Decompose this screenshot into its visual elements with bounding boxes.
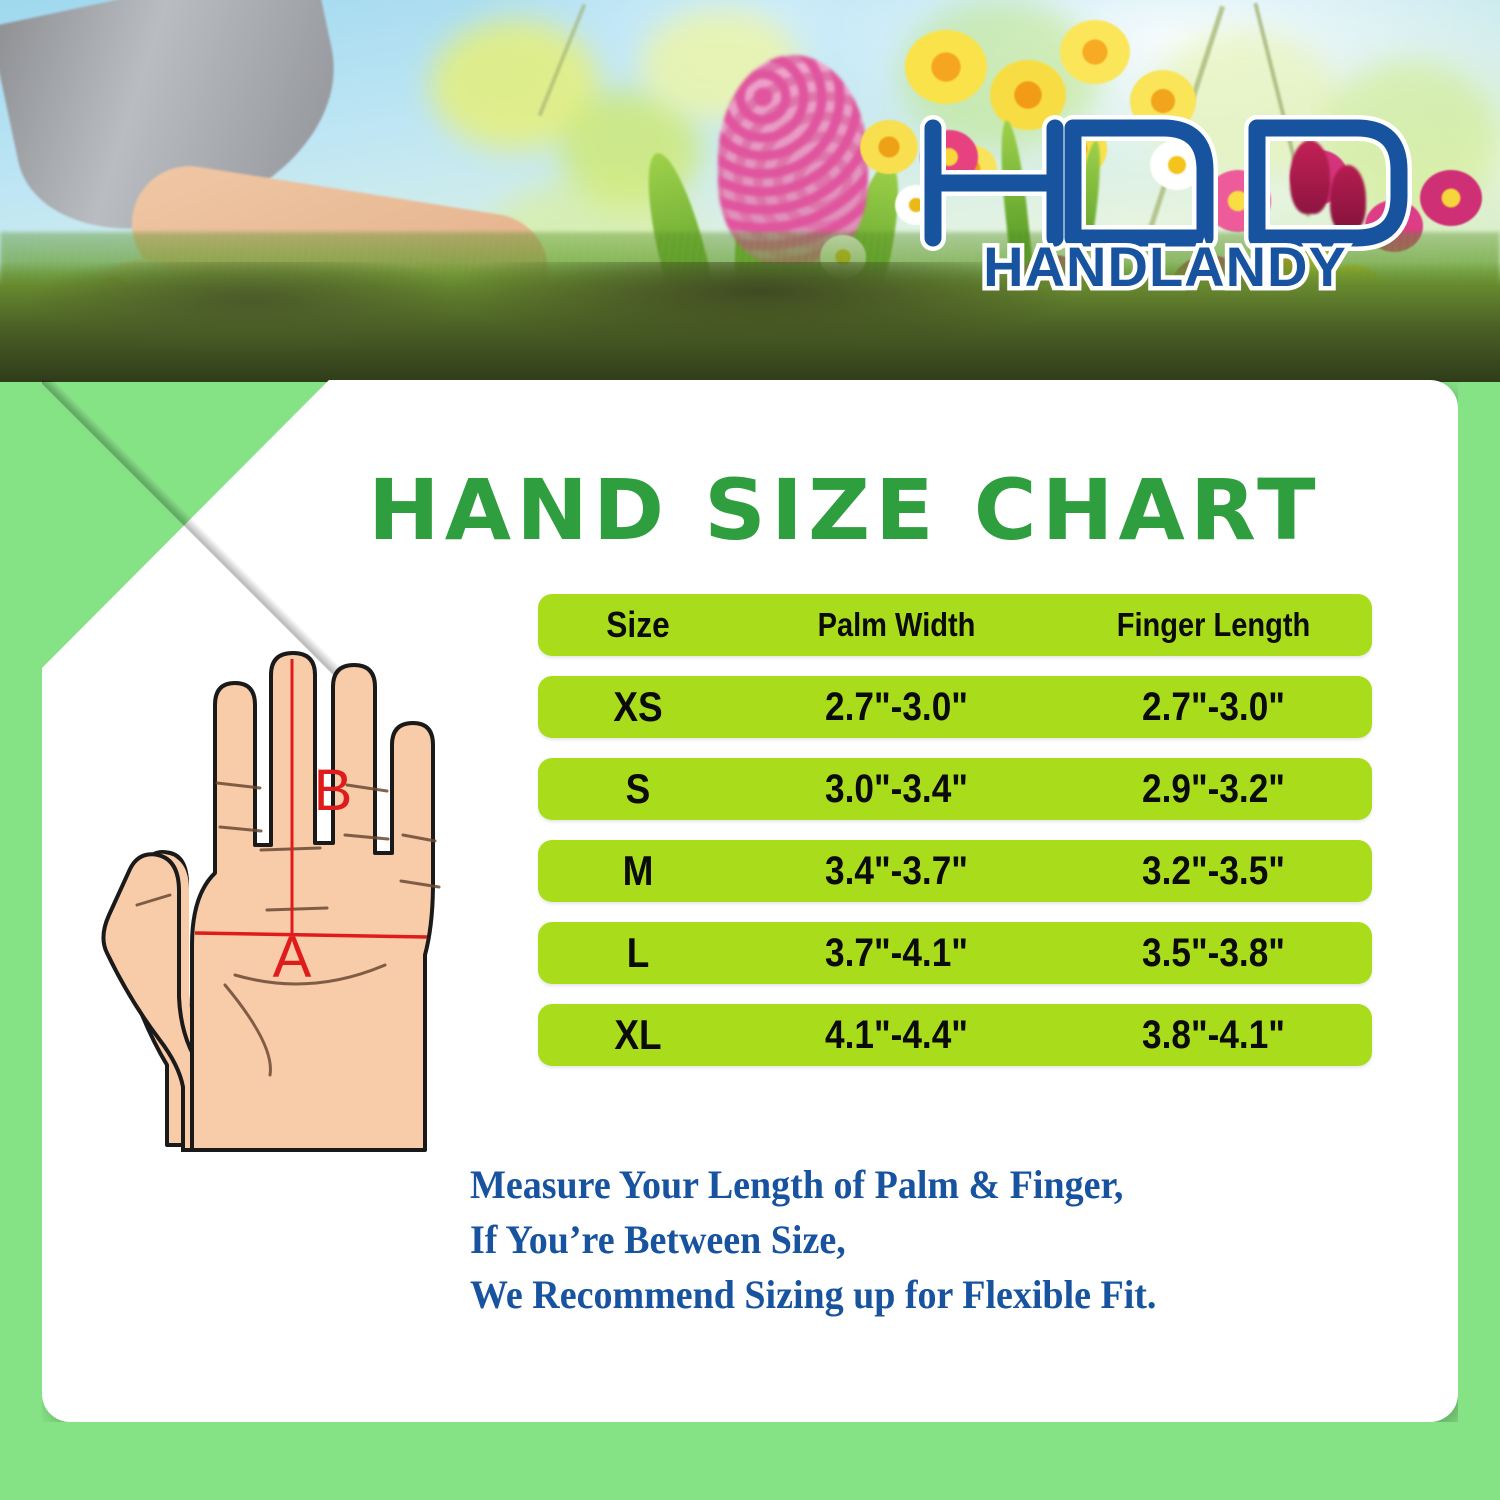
cell-size: XS: [550, 683, 726, 731]
cell-finger-length: 3.5"-3.8": [1074, 931, 1353, 976]
hand-measurement-diagram: A B: [95, 645, 515, 1165]
label-a: A: [273, 925, 312, 990]
logo-wordmark: HANDLANDY: [983, 235, 1347, 293]
handlandy-logo: HANDLANDY: [905, 88, 1425, 293]
size-chart-table: Size Palm Width Finger Length XS 2.7"-3.…: [538, 594, 1372, 1086]
cell-palm-width: 3.4"-3.7": [757, 849, 1036, 894]
table-row: S 3.0"-3.4" 2.9"-3.2": [538, 758, 1372, 820]
column-header-palm-width: Palm Width: [757, 606, 1036, 644]
cell-size: XL: [550, 1011, 726, 1059]
sizing-note: Measure Your Length of Palm & Finger, If…: [470, 1157, 1363, 1322]
table-header-row: Size Palm Width Finger Length: [538, 594, 1372, 656]
cell-size: M: [550, 847, 726, 895]
table-row: M 3.4"-3.7" 3.2"-3.5": [538, 840, 1372, 902]
note-line-3: We Recommend Sizing up for Flexible Fit.: [470, 1267, 1363, 1322]
cell-finger-length: 3.8"-4.1": [1074, 1013, 1353, 1058]
label-b: B: [314, 758, 353, 823]
cell-palm-width: 3.0"-3.4": [757, 767, 1036, 812]
note-line-2: If You’re Between Size,: [470, 1212, 1363, 1267]
note-line-1: Measure Your Length of Palm & Finger,: [470, 1157, 1363, 1212]
cell-palm-width: 3.7"-4.1": [757, 931, 1036, 976]
cell-palm-width: 4.1"-4.4": [757, 1013, 1036, 1058]
pink-daisy: [1420, 170, 1482, 226]
cell-finger-length: 2.7"-3.0": [1074, 685, 1353, 730]
cell-finger-length: 3.2"-3.5": [1074, 849, 1353, 894]
cell-palm-width: 2.7"-3.0": [757, 685, 1036, 730]
column-header-size: Size: [550, 604, 726, 646]
daffodil: [1060, 20, 1130, 84]
table-row: L 3.7"-4.1" 3.5"-3.8": [538, 922, 1372, 984]
cell-finger-length: 2.9"-3.2": [1074, 767, 1353, 812]
size-chart-page: HANDLANDY HAND SIZE CHART: [0, 0, 1500, 1500]
palm-and-fingers: [192, 653, 433, 1150]
page-title: HAND SIZE CHART: [368, 468, 1449, 552]
table-row: XL 4.1"-4.4" 3.8"-4.1": [538, 1004, 1372, 1066]
cell-size: L: [550, 929, 726, 977]
column-header-finger-length: Finger Length: [1074, 606, 1353, 644]
cell-size: S: [550, 765, 726, 813]
crease: [267, 908, 327, 910]
table-row: XS 2.7"-3.0" 2.7"-3.0": [538, 676, 1372, 738]
